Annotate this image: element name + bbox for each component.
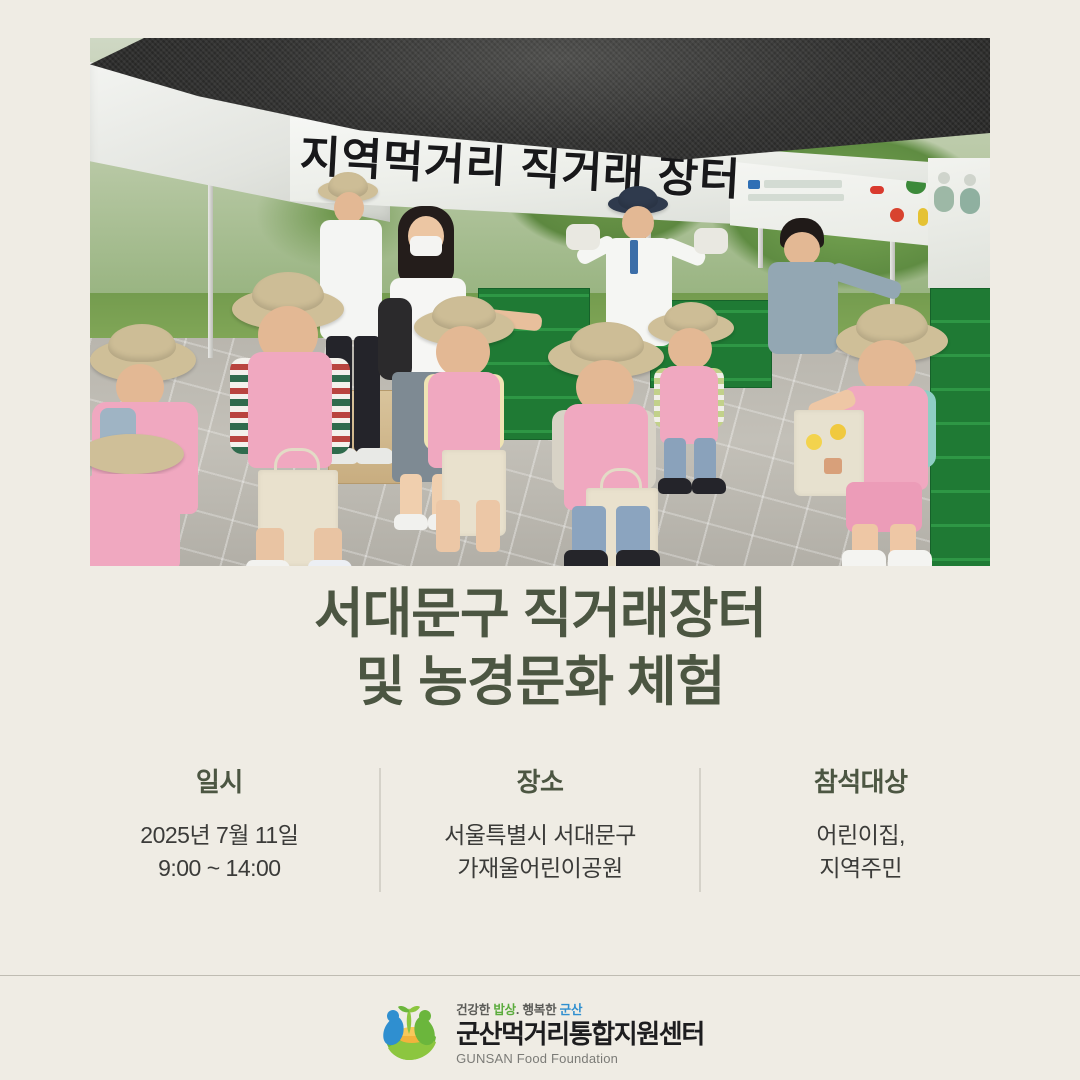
footer-org-name: 군산먹거리통합지원센터 [456,1020,704,1049]
info-heading-audience: 참석대상 [707,762,1014,799]
child-left-with-tote [196,278,396,566]
info-location-line-2: 가재울어린이공원 [387,852,694,885]
shoe [888,550,932,566]
lanyard [630,240,638,274]
leg [476,500,500,552]
shoe [842,550,886,566]
info-column-date: 일시 2025년 7월 11일 9:00 ~ 14:00 [60,762,379,886]
face [622,206,654,240]
info-column-audience: 참석대상 어린이집, 지역주민 [701,762,1020,886]
bag-print-chick-2 [830,424,846,440]
info-audience-line-1: 어린이집, [707,819,1014,852]
child-center-left [406,300,536,566]
farmer-illustration-head [938,172,950,184]
face [668,328,712,370]
footer-divider [0,975,1080,976]
info-column-location: 장소 서울특별시 서대문구 가재울어린이공원 [381,762,700,886]
info-time-value: 9:00 ~ 14:00 [66,852,373,885]
produce-bag-held-right [694,228,728,254]
hat-icon [856,304,928,344]
child-right-with-bag [790,310,970,566]
info-audience-line-2: 지역주민 [707,852,1014,885]
info-location-line-1: 서울특별시 서대문구 [387,819,694,852]
face [436,326,490,378]
child-pink-vest [90,474,180,566]
child-bottom-left-partial [90,434,200,566]
hat-icon [570,322,644,362]
info-heading-date: 일시 [66,762,373,799]
face [784,232,820,266]
gunsan-food-foundation-logo-icon [376,1000,442,1066]
event-photo: 지역먹거리 직거래 장터 [90,38,990,566]
child-pink-vest [660,366,718,444]
tagline-blue: 군산 [560,1003,583,1017]
shoe [616,550,660,566]
leg [572,506,606,556]
leg [616,506,650,556]
tagline-mid: . 행복한 [516,1003,560,1017]
shoe [308,560,352,566]
tent-panel-far-right [928,158,990,288]
shoe [692,478,726,494]
footer: 건강한 밥상. 행복한 군산 군산먹거리통합지원센터 GUNSAN Food F… [0,985,1080,1080]
hat-icon [108,324,176,362]
bag-print-chick [806,434,822,450]
poster-title: 서대문구 직거래장터 및 농경문화 체험 [0,580,1080,716]
tagline-pre: 건강한 [456,1003,493,1017]
bag-print-shape [824,458,842,474]
child-back-small [642,306,752,506]
title-line-2: 및 농경문화 체험 [0,648,1080,716]
farmer-illustration-body-2 [960,188,980,214]
tagline-green: 밥상 [493,1003,516,1017]
poster-root: 지역먹거리 직거래 장터 [0,0,1080,1080]
vegetable-illustration-tomato [890,208,904,222]
farmer-illustration-head-2 [964,174,976,186]
produce-bag-held-left [566,224,600,250]
shoe [564,550,608,566]
face-mask [410,236,442,256]
info-heading-location: 장소 [387,762,694,799]
farmer-illustration-body [934,186,954,212]
hat-icon [90,434,184,474]
footer-org-name-en: GUNSAN Food Foundation [456,1051,704,1066]
shoe [658,478,692,494]
info-date-value: 2025년 7월 11일 [66,819,373,852]
footer-logo-text: 건강한 밥상. 행복한 군산 군산먹거리통합지원센터 GUNSAN Food F… [456,999,704,1067]
hat-icon [432,296,496,330]
shoe [246,560,290,566]
vegetable-illustration-pepper [870,186,884,194]
vegetable-illustration-corn [918,208,928,226]
title-line-1: 서대문구 직거래장터 [0,580,1080,648]
leg [436,500,460,552]
event-info-row: 일시 2025년 7월 11일 9:00 ~ 14:00 장소 서울특별시 서대… [60,762,1020,908]
footer-tagline: 건강한 밥상. 행복한 군산 [456,999,704,1018]
